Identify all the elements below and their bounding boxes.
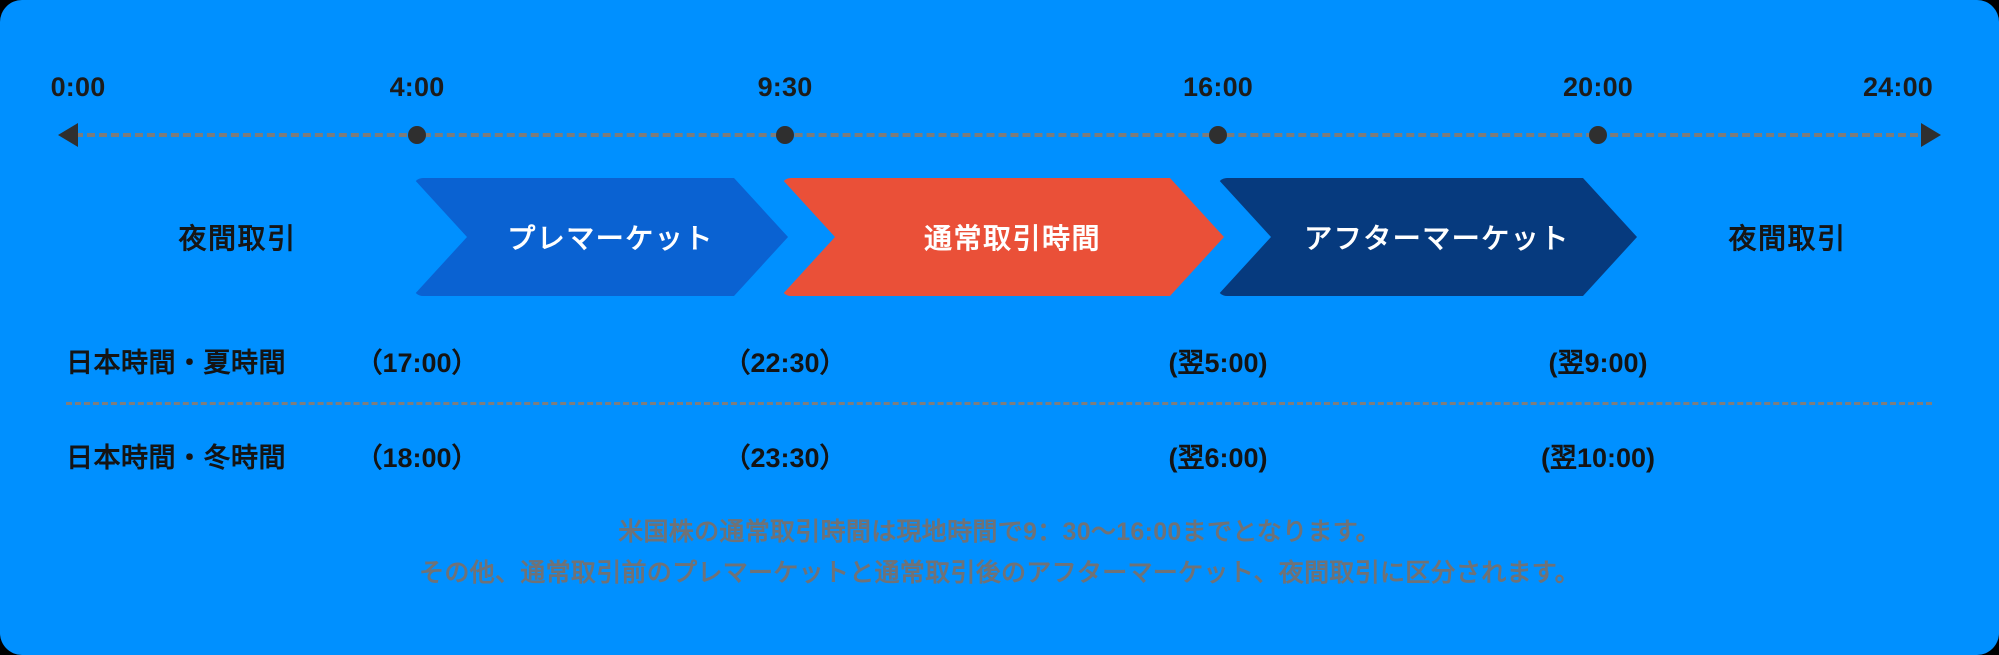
jst-summer-row: 日本時間・夏時間 （17:00）（22:30）(翌5:00)(翌9:00) [0, 330, 1999, 390]
session-band: 夜間取引プレマーケット通常取引時間アフターマーケット夜間取引 [0, 178, 1999, 296]
arrow-right-icon [1921, 123, 1941, 147]
jst-winter-row: 日本時間・冬時間 （18:00）（23:30）(翌6:00)(翌10:00) [0, 425, 1999, 485]
trading-hours-diagram-panel: 0:004:009:3016:0020:0024:00 夜間取引プレマーケット通… [0, 0, 1999, 655]
footnote-line: その他、通常取引前のプレマーケットと通常取引後のアフターマーケット、夜間取引に区… [0, 553, 1999, 594]
jst-row-divider [66, 402, 1932, 405]
session-label: プレマーケット [487, 217, 714, 257]
session-chevron-after-market: アフターマーケット [1217, 178, 1637, 296]
session-label-overnight-right: 夜間取引 [1635, 178, 1940, 296]
session-label: アフターマーケット [1284, 217, 1570, 257]
jst-value: (翌5:00) [1168, 330, 1267, 390]
tick-label: 24:00 [1863, 72, 1933, 103]
jst-value: （17:00） [355, 330, 478, 390]
jst-value: （23:30） [723, 425, 846, 485]
tick-label: 16:00 [1183, 72, 1253, 103]
session-chevron-regular-trading-hours: 通常取引時間 [781, 178, 1224, 296]
tick-label: 9:30 [758, 72, 813, 103]
timeline-axis-line [75, 133, 1930, 137]
jst-summer-row-label: 日本時間・夏時間 [66, 330, 286, 390]
footnote-line: 米国株の通常取引時間は現地時間で9：30〜16:00までとなります。 [0, 512, 1999, 553]
tick-dot-icon [1589, 126, 1607, 144]
tick-dot-icon [776, 126, 794, 144]
arrow-left-icon [58, 123, 78, 147]
session-chevron-pre-market: プレマーケット [413, 178, 788, 296]
jst-value: （18:00） [355, 425, 478, 485]
jst-value: (翌6:00) [1168, 425, 1267, 485]
session-label-overnight-left: 夜間取引 [60, 178, 415, 296]
jst-value: （22:30） [723, 330, 846, 390]
jst-winter-row-label: 日本時間・冬時間 [66, 425, 286, 485]
tick-dot-icon [408, 126, 426, 144]
tick-label: 20:00 [1563, 72, 1633, 103]
jst-value: (翌9:00) [1548, 330, 1647, 390]
tick-dot-icon [1209, 126, 1227, 144]
tick-label: 4:00 [390, 72, 445, 103]
jst-value: (翌10:00) [1541, 425, 1655, 485]
session-label: 通常取引時間 [904, 217, 1101, 257]
footnotes: 米国株の通常取引時間は現地時間で9：30〜16:00までとなります。その他、通常… [0, 512, 1999, 594]
tick-label: 0:00 [51, 72, 106, 103]
